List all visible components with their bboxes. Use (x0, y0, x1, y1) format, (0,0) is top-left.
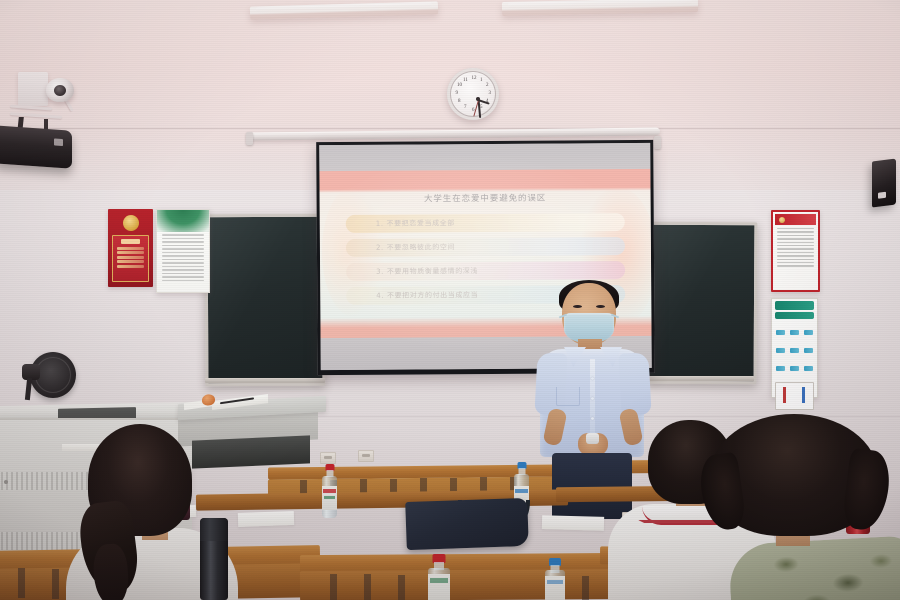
poster-text-line (777, 248, 814, 249)
presenter-sleeve-left (534, 352, 567, 415)
student-papers (542, 515, 604, 531)
poster-cell (776, 330, 785, 335)
poster-text-line (777, 262, 814, 263)
poster-text-line (117, 247, 144, 250)
bench-slat-gap (18, 568, 25, 598)
clock-numeral-12: 12 (472, 76, 477, 81)
thermos-cap (200, 518, 228, 541)
roller-bracket-right (654, 136, 661, 149)
poster-class-rules (156, 209, 210, 293)
slide-bullet-item: 2. 不要忽略彼此的空间 (346, 237, 625, 257)
clock-numeral-1: 1 (480, 78, 483, 83)
fan-bracket (25, 378, 32, 400)
navy-handbag[interactable] (405, 498, 529, 550)
poster-text-line (777, 252, 814, 253)
classroom-photo: 12 1 2 3 4 5 6 7 8 9 10 11 (0, 0, 900, 600)
right-chalkboard (646, 222, 758, 385)
poster-text-line (162, 245, 204, 247)
poster-text-line (777, 245, 814, 246)
poster-cell (804, 348, 813, 353)
poster-heading-bar (121, 239, 140, 244)
poster-text-line (162, 266, 204, 268)
poster-text-line (777, 242, 814, 243)
clock-face: 12 1 2 3 4 5 6 7 8 9 10 11 (452, 73, 494, 115)
poster-cell (776, 348, 785, 353)
poster-text-line (777, 231, 814, 232)
bench-slat-gap (330, 574, 337, 600)
wall-seam-upper (0, 128, 900, 129)
wall-power-outlet[interactable] (320, 452, 336, 464)
slide-bullet-item: 3. 不要用物质衡量感情的深浅 (346, 261, 625, 281)
wall-clock: 12 1 2 3 4 5 6 7 8 9 10 11 (447, 68, 499, 120)
black-thermos[interactable] (200, 518, 228, 600)
poster-text-line (162, 273, 204, 275)
student-papers (238, 511, 294, 527)
poster-text-line (162, 269, 204, 271)
poster-teal-band (775, 312, 814, 319)
poster-text-line (117, 256, 144, 259)
water-bottle[interactable] (545, 558, 565, 600)
poster-cell (790, 330, 799, 335)
poster-text-line (162, 259, 204, 261)
poster-text-line (777, 259, 814, 260)
clock-numeral-8: 8 (458, 99, 461, 104)
student-far-right (700, 414, 900, 600)
chalk-rail-right (644, 376, 754, 381)
cabinet-lock-icon[interactable] (4, 480, 8, 484)
bottle-label (545, 576, 565, 600)
chalk-rail-left (205, 378, 325, 383)
bottle-label (322, 486, 337, 510)
bench-slat-gap (582, 576, 589, 600)
poster-text-line (162, 276, 204, 278)
water-bottle[interactable] (428, 554, 450, 600)
roller-bracket-left (246, 132, 253, 145)
bench-slat-gap (398, 575, 405, 600)
clock-numeral-10: 10 (457, 83, 462, 88)
poster-text-line (162, 248, 204, 250)
poster-cell (804, 366, 813, 371)
poster-text-line (162, 262, 204, 264)
presenter-sleeve-right (618, 352, 651, 415)
poster-values-card (112, 235, 149, 282)
presenter-shirt-button (591, 417, 594, 420)
poster-core-values (108, 209, 153, 287)
poster-text-line (117, 260, 144, 263)
wall-mounted-fan[interactable] (22, 352, 76, 402)
bench-slat-gap (364, 574, 371, 600)
slide-bullet-item: 1. 不要把恋爱当成全部 (346, 213, 625, 233)
slide-title: 大学生在恋爱中要避免的误区 (320, 191, 651, 205)
screen-top-margin (319, 143, 650, 171)
clock-numeral-7: 7 (464, 105, 467, 110)
left-chalkboard (205, 214, 326, 387)
poster-text-line (162, 280, 204, 282)
poster-cell (804, 330, 813, 335)
poster-cell (790, 366, 799, 371)
chalkboard-sheen (649, 225, 755, 382)
presenter-remote-clicker[interactable] (586, 433, 599, 444)
poster-text-line (777, 235, 814, 236)
clock-numeral-3: 3 (489, 91, 492, 96)
poster-text-line (162, 252, 204, 254)
student-hair (710, 414, 878, 536)
bottle-label (428, 574, 450, 600)
student-camo-shirt (728, 535, 900, 600)
presenter-eye-left (573, 305, 582, 308)
poster-cell (790, 348, 799, 353)
water-bottle[interactable] (322, 464, 337, 518)
poster-text-line (162, 241, 204, 243)
poster-red-header (775, 214, 816, 225)
clock-numeral-11: 11 (463, 78, 468, 83)
poster-seal-icon (123, 215, 139, 231)
electrical-junction-box (18, 72, 48, 106)
poster-diagram (775, 382, 814, 410)
chalkboard-sheen (208, 217, 323, 384)
presenter-shirt-button (591, 397, 594, 400)
poster-text-line (162, 238, 204, 240)
poster-text-line (777, 228, 814, 229)
wall-speaker (872, 159, 896, 208)
poster-classroom-safety (771, 210, 820, 292)
bench-front-center-back (300, 569, 630, 600)
poster-text-line (117, 251, 144, 254)
ceiling-projector (0, 125, 72, 168)
wall-power-outlet[interactable] (358, 450, 374, 462)
poster-text-line (777, 265, 814, 266)
presenter-shirt-pocket (556, 387, 580, 406)
poster-text-line (162, 234, 204, 236)
poster-fire-safety (771, 298, 818, 398)
poster-green-header (157, 210, 209, 232)
bench-slat-gap (52, 569, 59, 599)
presenter-shirt-button (591, 377, 594, 380)
clock-numeral-2: 2 (486, 83, 489, 88)
clock-center-pin (476, 97, 480, 101)
poster-text-line (777, 238, 814, 239)
poster-text-line (117, 265, 144, 268)
presenter-eye-right (596, 305, 605, 308)
camera-lens-icon (54, 85, 66, 96)
poster-cell (776, 366, 785, 371)
poster-text-line (777, 255, 814, 256)
poster-teal-band (775, 301, 814, 310)
clock-numeral-9: 9 (456, 91, 459, 96)
poster-text-line (162, 255, 204, 257)
